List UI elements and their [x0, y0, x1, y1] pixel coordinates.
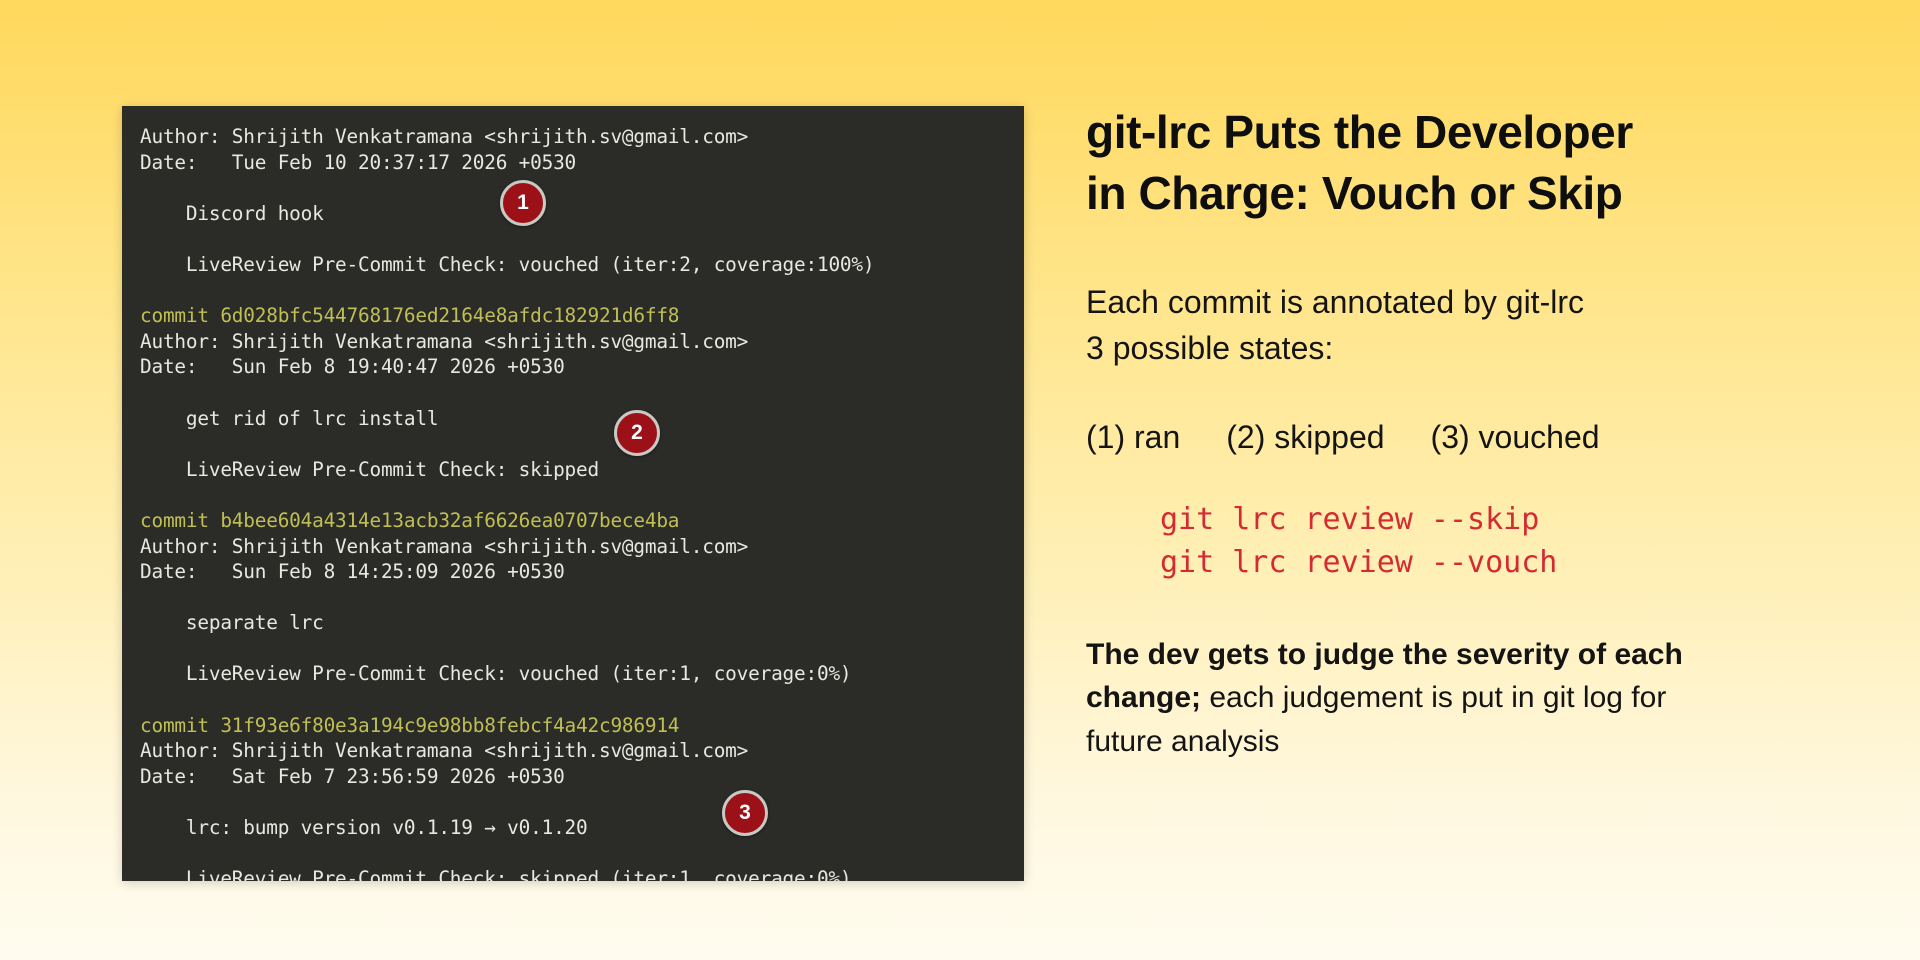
intro-line-2: 3 possible states: — [1086, 326, 1850, 371]
callout-badge-3-label: 3 — [739, 801, 751, 825]
terminal-line — [140, 278, 1024, 304]
command-skip: git lrc review --skip — [1160, 498, 1850, 541]
terminal-line: LiveReview Pre-Commit Check: vouched (it… — [140, 252, 1024, 278]
terminal-line: Author: Shrijith Venkatramana <shrijith.… — [140, 329, 1024, 355]
terminal-line — [140, 636, 1024, 662]
terminal-line — [140, 687, 1024, 713]
terminal-line: Author: Shrijith Venkatramana <shrijith.… — [140, 124, 1024, 150]
terminal-line — [140, 175, 1024, 201]
terminal-line: Date: Tue Feb 10 20:37:17 2026 +0530 — [140, 150, 1024, 176]
terminal-commit-line: commit 31f93e6f80e3a194c9e98bb8febcf4a42… — [140, 713, 1024, 739]
terminal-line: Author: Shrijith Venkatramana <shrijith.… — [140, 534, 1024, 560]
terminal-line — [140, 431, 1024, 457]
terminal-line — [140, 226, 1024, 252]
terminal-line: LiveReview Pre-Commit Check: vouched (it… — [140, 661, 1024, 687]
callout-badge-2-label: 2 — [631, 421, 643, 445]
terminal-line: lrc: bump version v0.1.19 → v0.1.20 — [140, 815, 1024, 841]
states-list: (1) ran (2) skipped (3) vouched — [1086, 419, 1850, 456]
terminal-line: Author: Shrijith Venkatramana <shrijith.… — [140, 738, 1024, 764]
terminal-log: Author: Shrijith Venkatramana <shrijith.… — [122, 124, 1024, 881]
state-item-vouched: (3) vouched — [1431, 419, 1600, 456]
terminal-line: Discord hook — [140, 201, 1024, 227]
terminal-panel: Author: Shrijith Venkatramana <shrijith.… — [122, 106, 1024, 881]
terminal-line — [140, 585, 1024, 611]
right-column: git-lrc Puts the Developer in Charge: Vo… — [1060, 0, 1920, 960]
terminal-commit-line: commit 6d028bfc544768176ed2164e8afdc1829… — [140, 303, 1024, 329]
terminal-line: LiveReview Pre-Commit Check: skipped — [140, 457, 1024, 483]
page-title-line-1: git-lrc Puts the Developer — [1086, 102, 1786, 163]
command-vouch: git lrc review --vouch — [1160, 541, 1850, 584]
terminal-line — [140, 789, 1024, 815]
state-item-skipped: (2) skipped — [1226, 419, 1384, 456]
terminal-line — [140, 841, 1024, 867]
closing-paragraph: The dev gets to judge the severity of ea… — [1086, 633, 1706, 764]
terminal-line: separate lrc — [140, 610, 1024, 636]
state-item-ran: (1) ran — [1086, 419, 1180, 456]
left-column: Author: Shrijith Venkatramana <shrijith.… — [0, 0, 1060, 960]
intro-line-1: Each commit is annotated by git-lrc — [1086, 280, 1850, 325]
terminal-line: LiveReview Pre-Commit Check: skipped (it… — [140, 866, 1024, 881]
terminal-line: Date: Sun Feb 8 14:25:09 2026 +0530 — [140, 559, 1024, 585]
command-list: git lrc review --skip git lrc review --v… — [1086, 498, 1850, 584]
callout-badge-1: 1 — [500, 180, 546, 226]
slide-root: Author: Shrijith Venkatramana <shrijith.… — [0, 0, 1920, 960]
terminal-commit-line: commit b4bee604a4314e13acb32af6626ea0707… — [140, 508, 1024, 534]
page-title: git-lrc Puts the Developer in Charge: Vo… — [1086, 102, 1786, 224]
terminal-line — [140, 482, 1024, 508]
callout-badge-3: 3 — [722, 790, 768, 836]
intro-paragraph: Each commit is annotated by git-lrc 3 po… — [1086, 280, 1850, 371]
terminal-line — [140, 380, 1024, 406]
callout-badge-1-label: 1 — [517, 191, 529, 215]
callout-badge-2: 2 — [614, 410, 660, 456]
terminal-line: Date: Sun Feb 8 19:40:47 2026 +0530 — [140, 354, 1024, 380]
page-title-line-2: in Charge: Vouch or Skip — [1086, 163, 1786, 224]
terminal-line: get rid of lrc install — [140, 406, 1024, 432]
terminal-line: Date: Sat Feb 7 23:56:59 2026 +0530 — [140, 764, 1024, 790]
